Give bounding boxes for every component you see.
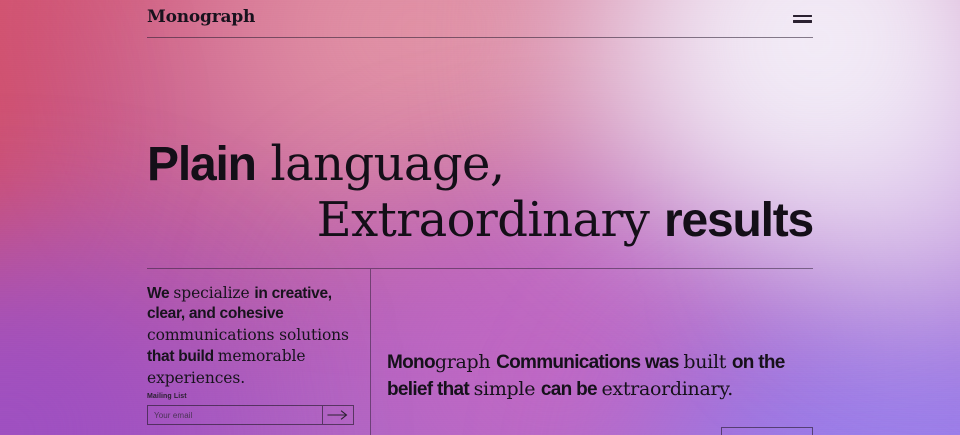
left-column: We specialize in creative, clear, and co…: [147, 269, 370, 435]
mission-paragraph: Monograph Communications was built on th…: [387, 349, 815, 403]
hero-line-1: Plain language,: [147, 140, 813, 190]
body-seg-1: Mono: [387, 352, 435, 373]
email-input[interactable]: [148, 406, 322, 424]
lede-paragraph: We specialize in creative, clear, and co…: [147, 283, 354, 389]
hamburger-bar-bottom: [793, 20, 812, 23]
body-seg-3: Communications was: [496, 352, 683, 373]
body-seg-8: extraordinary.: [601, 378, 732, 400]
body-seg-6: simple: [474, 378, 541, 400]
arrow-right-icon[interactable]: [322, 406, 353, 424]
hero-headline: Plain language, Extraordinary results: [147, 140, 813, 246]
body-seg-7: can be: [541, 379, 602, 400]
hero-word-plain: Plain: [147, 138, 256, 191]
page-content: Monograph Plain language, Extraordinary …: [0, 0, 960, 435]
cta-button-partial[interactable]: [721, 427, 813, 435]
lede-seg-5: that build: [147, 348, 218, 365]
mailing-list-label: Mailing List: [147, 393, 187, 400]
body-seg-4: built: [683, 351, 731, 373]
hero-word-results: results: [664, 194, 813, 247]
site-header: Monograph: [147, 0, 813, 38]
hamburger-bar-top: [793, 15, 812, 18]
hero-line-2: Extraordinary results: [147, 196, 813, 246]
lede-seg-2: specialize: [173, 284, 254, 302]
body-seg-2: graph: [435, 351, 496, 373]
mailing-list-form: [147, 405, 354, 425]
lede-seg-4: communications solutions: [147, 326, 349, 344]
right-column: Monograph Communications was built on th…: [371, 269, 813, 435]
lede-seg-1: We: [147, 285, 173, 302]
hero-word-extraordinary: Extraordinary: [317, 192, 664, 248]
hamburger-menu-icon[interactable]: [793, 11, 813, 27]
hero-word-language: language,: [256, 136, 505, 192]
page-root: Monograph Plain language, Extraordinary …: [0, 0, 960, 435]
content-columns: We specialize in creative, clear, and co…: [147, 269, 813, 435]
logo-wordmark[interactable]: Monograph: [147, 9, 255, 28]
